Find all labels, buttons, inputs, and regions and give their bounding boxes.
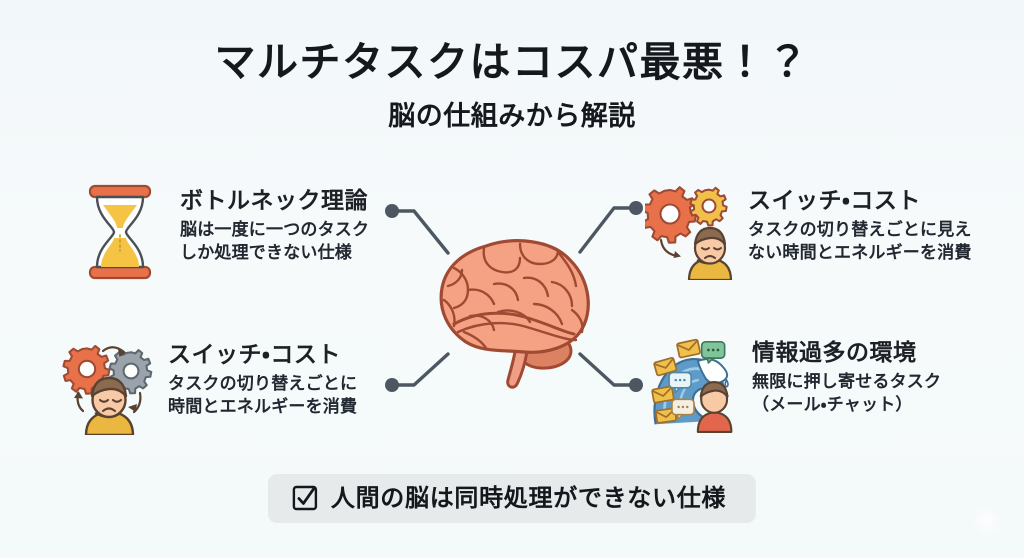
card-title: ボトルネック理論	[180, 188, 369, 214]
slide-canvas: マルチタスクはコスパ最悪！？ 脳の仕組みから解説 ボトルネック理論 脳は一度に一…	[0, 0, 1024, 558]
card-title: スイッチ・コスト	[748, 188, 972, 214]
card-body: 無限に押し寄せるタスク （メール・チャット）	[752, 371, 941, 417]
card-body: タスクの切り替えごとに見え ない時間とエネルギーを消費	[748, 219, 972, 265]
footer-banner[interactable]: 人間の脳は同時処理ができない仕様	[268, 474, 756, 523]
brain-illustration	[424, 228, 602, 398]
card-body: 脳は一度に一つのタスク しか処理できない仕様	[180, 219, 369, 265]
corner-glint	[972, 506, 1002, 536]
card-title: スイッチ・コスト	[168, 342, 357, 368]
gears-person-icon	[60, 336, 156, 436]
card-text: スイッチ・コスト タスクの切り替えごとに見え ない時間とエネルギーを消費	[748, 182, 972, 265]
page-subtitle: 脳の仕組みから解説	[0, 94, 1024, 133]
card-switch-cost-bottom[interactable]: スイッチ・コスト タスクの切り替えごとに 時間とエネルギーを消費	[60, 336, 357, 436]
card-bottleneck-theory[interactable]: ボトルネック理論 脳は一度に一つのタスク しか処理できない仕様	[72, 182, 369, 282]
card-text: スイッチ・コスト タスクの切り替えごとに 時間とエネルギーを消費	[168, 336, 357, 419]
card-body: タスクの切り替えごとに 時間とエネルギーを消費	[168, 373, 357, 419]
title-block: マルチタスクはコスパ最悪！？ 脳の仕組みから解説	[0, 40, 1024, 133]
wave-email-overload-icon	[648, 334, 740, 434]
card-information-overload[interactable]: 情報過多の環境 無限に押し寄せるタスク （メール・チャット）	[648, 334, 941, 434]
card-text: ボトルネック理論 脳は一度に一つのタスク しか処理できない仕様	[180, 182, 369, 265]
card-switch-cost-top[interactable]: スイッチ・コスト タスクの切り替えごとに見え ない時間とエネルギーを消費	[644, 182, 972, 282]
card-title: 情報過多の環境	[752, 340, 941, 366]
card-text: 情報過多の環境 無限に押し寄せるタスク （メール・チャット）	[752, 334, 941, 417]
page-title: マルチタスクはコスパ最悪！？	[0, 40, 1024, 86]
gears-person-icon	[644, 182, 736, 282]
footer-text: 人間の脳は同時処理ができない仕様	[331, 486, 726, 510]
checkbox-checked-icon	[292, 485, 318, 511]
hourglass-icon	[72, 182, 168, 282]
